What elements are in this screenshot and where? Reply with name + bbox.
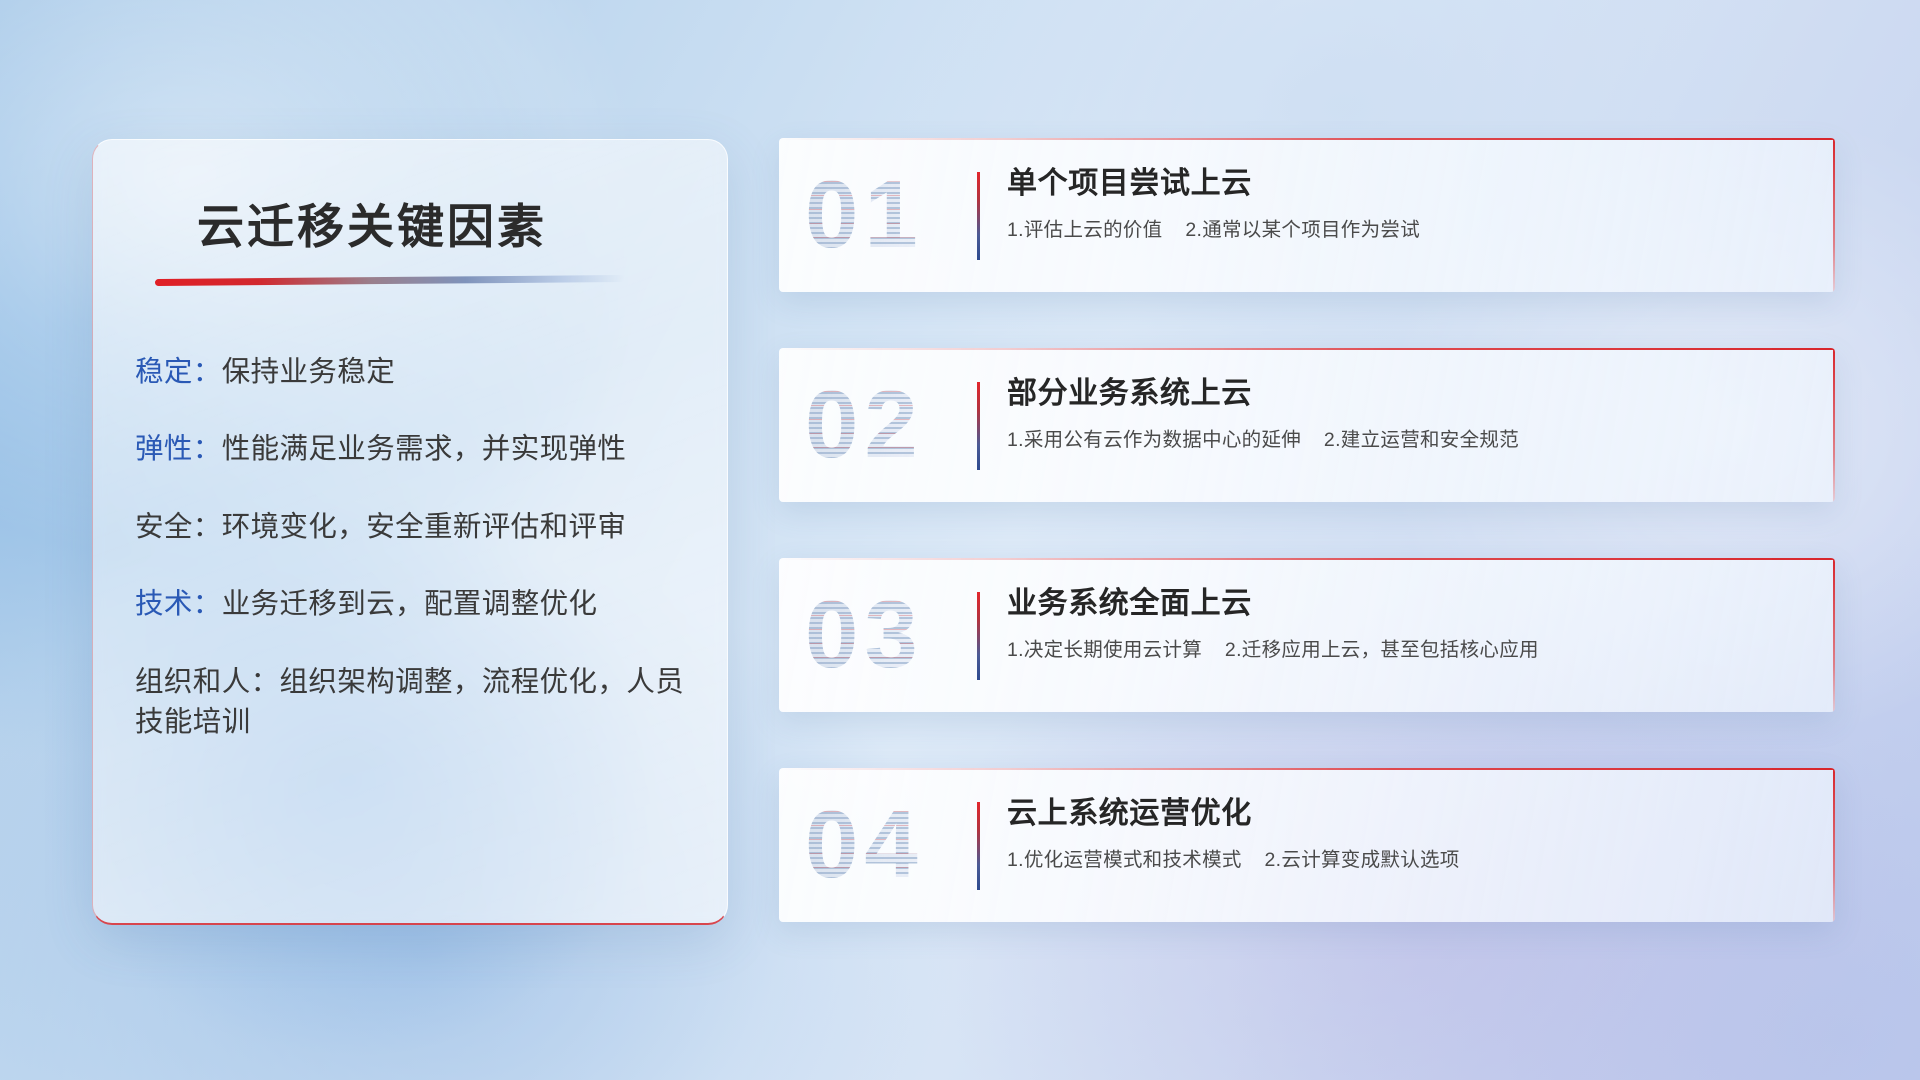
step-subtitle: 1.评估上云的价值 2.通常以某个项目作为尝试 — [1007, 217, 1809, 243]
step-number-watermark: 01 — [805, 167, 924, 263]
step-number-watermark: 04 — [805, 797, 924, 893]
list-item: 组织和人：组织架构调整，流程优化，人员技能培训 — [135, 662, 693, 743]
key-factors-panel: 云迁移关键因素 稳定：保持业务稳定 弹性：性能满足业务需求，并实现弹性 安全：环… — [92, 139, 728, 925]
step-title: 云上系统运营优化 — [1007, 795, 1809, 833]
step-card-02[interactable]: 02 02 部分业务系统上云 1.采用公有云作为数据中心的延伸 2.建立运营和安… — [779, 348, 1835, 502]
step-card-01[interactable]: 01 01 单个项目尝试上云 1.评估上云的价值 2.通常以某个项目作为尝试 — [779, 138, 1835, 292]
step-card-04[interactable]: 04 04 云上系统运营优化 1.优化运营模式和技术模式 2.云计算变成默认选项 — [779, 768, 1835, 922]
step-content: 业务系统全面上云 1.决定长期使用云计算 2.迁移应用上云，甚至包括核心应用 — [1007, 585, 1809, 663]
step-title: 单个项目尝试上云 — [1007, 165, 1809, 203]
title-underline-rule — [155, 275, 625, 286]
step-content: 部分业务系统上云 1.采用公有云作为数据中心的延伸 2.建立运营和安全规范 — [1007, 375, 1809, 453]
factor-label: 弹性： — [135, 433, 222, 465]
factor-value: 性能满足业务需求，并实现弹性 — [222, 433, 627, 465]
step-subtitle: 1.优化运营模式和技术模式 2.云计算变成默认选项 — [1007, 847, 1809, 873]
factor-label: 稳定： — [135, 356, 222, 388]
accent-bar-icon — [977, 382, 980, 470]
step-content: 云上系统运营优化 1.优化运营模式和技术模式 2.云计算变成默认选项 — [1007, 795, 1809, 873]
step-subtitle: 1.采用公有云作为数据中心的延伸 2.建立运营和安全规范 — [1007, 427, 1809, 453]
factor-label: 技术： — [135, 588, 222, 620]
step-title: 业务系统全面上云 — [1007, 585, 1809, 623]
key-factors-list: 稳定：保持业务稳定 弹性：性能满足业务需求，并实现弹性 安全：环境变化，安全重新… — [135, 352, 693, 743]
step-card-03[interactable]: 03 03 业务系统全面上云 1.决定长期使用云计算 2.迁移应用上云，甚至包括… — [779, 558, 1835, 712]
page-title: 云迁移关键因素 — [197, 188, 547, 257]
list-item: 稳定：保持业务稳定 — [135, 352, 693, 392]
slide-canvas: 云迁移关键因素 稳定：保持业务稳定 弹性：性能满足业务需求，并实现弹性 安全：环… — [0, 0, 1920, 1080]
step-title: 部分业务系统上云 — [1007, 375, 1809, 413]
factor-label: 安全： — [135, 511, 222, 543]
step-number-watermark: 03 — [805, 587, 924, 683]
accent-bar-icon — [977, 802, 980, 890]
factor-value: 保持业务稳定 — [222, 356, 395, 388]
factor-value: 环境变化，安全重新评估和评审 — [222, 511, 627, 543]
list-item: 安全：环境变化，安全重新评估和评审 — [135, 507, 693, 547]
migration-steps-list: 01 01 单个项目尝试上云 1.评估上云的价值 2.通常以某个项目作为尝试 0… — [779, 138, 1835, 922]
step-subtitle: 1.决定长期使用云计算 2.迁移应用上云，甚至包括核心应用 — [1007, 637, 1809, 663]
list-item: 技术：业务迁移到云，配置调整优化 — [135, 584, 693, 624]
factor-value: 业务迁移到云，配置调整优化 — [222, 588, 598, 620]
list-item: 弹性：性能满足业务需求，并实现弹性 — [135, 429, 693, 469]
accent-bar-icon — [977, 592, 980, 680]
accent-bar-icon — [977, 172, 980, 260]
factor-label: 组织和人： — [135, 666, 280, 698]
step-content: 单个项目尝试上云 1.评估上云的价值 2.通常以某个项目作为尝试 — [1007, 165, 1809, 243]
step-number-watermark: 02 — [805, 377, 924, 473]
